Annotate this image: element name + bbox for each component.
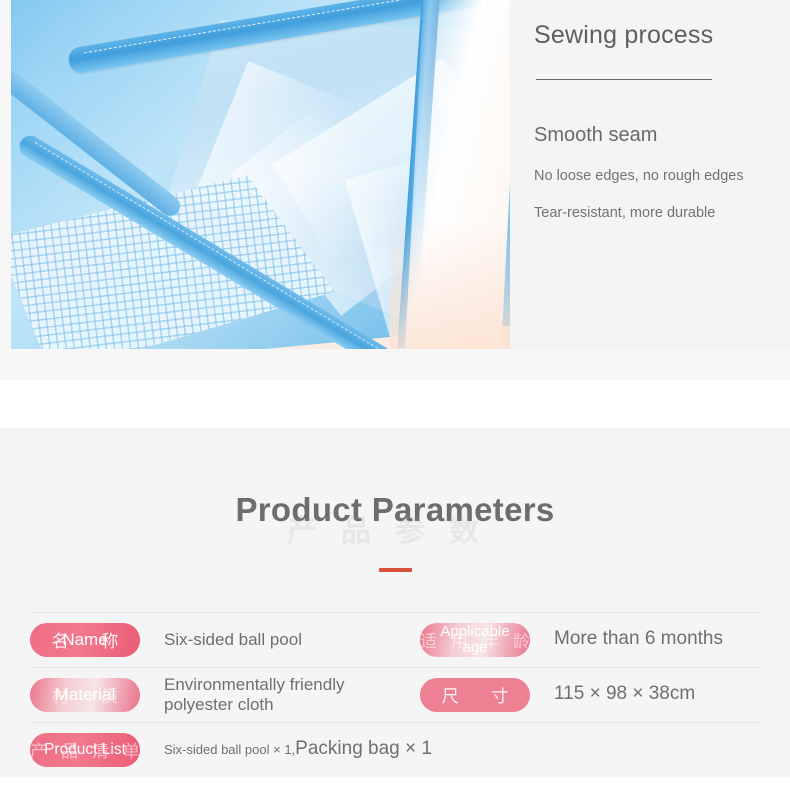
- param-row-product-list: 产品清单 Product List Six-sided ball pool × …: [30, 722, 760, 777]
- param-row-material: 材 质 Material Environmentally friendly po…: [30, 667, 395, 722]
- param-label-en: Applicable age: [436, 624, 513, 655]
- param-value-material: Environmentally friendly polyester cloth: [164, 675, 365, 715]
- feature-subtitle: Smooth seam: [534, 123, 790, 147]
- param-label-pill-dimensions: 尺 寸: [420, 678, 530, 712]
- product-list-part-one: Six-sided ball pool × 1,: [164, 742, 295, 757]
- parameters-table: 名 称 Name Six-sided ball pool 适用年龄 Applic…: [0, 612, 790, 777]
- feature-copy-panel: Sewing process Smooth seam No loose edge…: [510, 0, 790, 349]
- photo-warm-shadow: [390, 219, 510, 349]
- feature-divider: [536, 79, 712, 80]
- param-label-pill-applicable-age: 适用年龄 Applicable age: [420, 623, 530, 657]
- param-label-en: Product List: [40, 742, 130, 758]
- feature-point-1: No loose edges, no rough edges: [534, 167, 790, 186]
- feature-point-2: Tear-resistant, more durable: [534, 204, 790, 223]
- heading-accent-dash: [379, 568, 412, 572]
- param-label-en: Material: [51, 686, 119, 703]
- param-label-pill-name: 名 称 Name: [30, 623, 140, 657]
- param-value-applicable-age: More than 6 months: [554, 628, 723, 650]
- product-list-part-two: Packing bag × 1: [295, 738, 432, 759]
- product-photo-blue-fabric: [11, 0, 510, 349]
- param-value-dimensions: 115 × 98 × 38cm: [554, 683, 695, 705]
- param-label-cjk: 尺 寸: [420, 678, 530, 712]
- feature-title: Sewing process: [534, 20, 790, 50]
- section-gap: [0, 380, 790, 428]
- feature-banner: Sewing process Smooth seam No loose edge…: [11, 0, 790, 349]
- param-row-name: 名 称 Name Six-sided ball pool: [30, 612, 395, 667]
- param-value-name: Six-sided ball pool: [164, 630, 302, 650]
- param-label-pill-material: 材 质 Material: [30, 678, 140, 712]
- param-value-product-list: Six-sided ball pool × 1,Packing bag × 1: [164, 738, 432, 760]
- parameters-heading-block: 产品参数 Product Parameters: [0, 490, 790, 572]
- product-parameters-section: 产品参数 Product Parameters 名 称 Name Six-sid…: [0, 428, 790, 777]
- parameters-heading: Product Parameters: [0, 490, 790, 530]
- param-row-dimensions: 尺 寸 115 × 98 × 38cm: [395, 667, 760, 722]
- param-label-pill-product-list: 产品清单 Product List: [30, 733, 140, 767]
- param-row-applicable-age: 适用年龄 Applicable age More than 6 months: [395, 612, 760, 667]
- sewing-process-feature-section: Sewing process Smooth seam No loose edge…: [0, 0, 790, 380]
- param-label-en: Name: [58, 631, 111, 648]
